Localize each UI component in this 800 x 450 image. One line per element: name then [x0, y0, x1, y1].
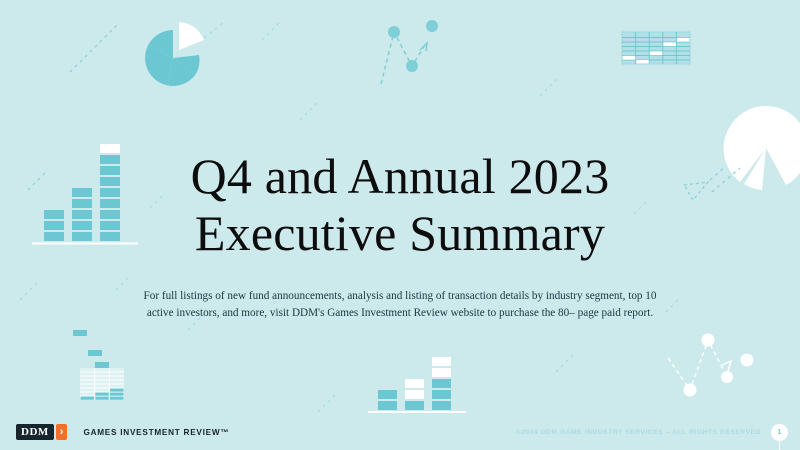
dashed-line-top-mid-icon	[262, 20, 318, 120]
chevron-right-icon: ›	[56, 424, 68, 441]
slide-footer: DDM › GAMES INVESTMENT REVIEW™ ©2024 DDM…	[0, 414, 800, 450]
footer-right-group: ©2024 DDM GAME INDUSTRY SERVICES – ALL R…	[516, 424, 788, 441]
page-title-line-1: Q4 and Annual 2023	[0, 148, 800, 205]
slide-canvas: Q4 and Annual 2023 Executive Summary For…	[0, 0, 800, 450]
line-chart-bottom-right-icon	[668, 334, 754, 397]
heatmap-grid-bottom-left-icon	[73, 330, 124, 400]
page-number-badge: 1	[771, 424, 788, 441]
copyright-text: ©2024 DDM GAME INDUSTRY SERVICES – ALL R…	[516, 429, 761, 436]
footer-brand-label: GAMES INVESTMENT REVIEW™	[83, 428, 229, 437]
pie-chart-top-left-icon	[145, 22, 204, 86]
page-subtitle-line-2: active investors, and more, visit DDM's …	[110, 305, 690, 322]
page-title-line-2: Executive Summary	[0, 205, 800, 262]
dashed-line-top-right-icon	[540, 76, 560, 96]
pie-explode-dashed-line-icon	[204, 22, 224, 38]
page-title: Q4 and Annual 2023 Executive Summary	[0, 148, 800, 262]
dashed-line-top-left-icon	[70, 24, 118, 72]
dashed-line-bottom-center-icon	[318, 354, 574, 412]
page-subtitle-line-1: For full listings of new fund announceme…	[110, 288, 690, 305]
bar-chart-bottom-center-icon	[368, 357, 466, 412]
page-badge-stem	[779, 436, 780, 450]
ddm-logo-wordmark: DDM	[16, 424, 54, 441]
line-chart-top-center-icon	[381, 20, 438, 84]
hero-content: Q4 and Annual 2023 Executive Summary For…	[0, 148, 800, 323]
table-grid-top-right-icon	[622, 32, 690, 64]
page-subtitle: For full listings of new fund announceme…	[110, 288, 690, 323]
ddm-logo[interactable]: DDM ›	[16, 424, 67, 441]
